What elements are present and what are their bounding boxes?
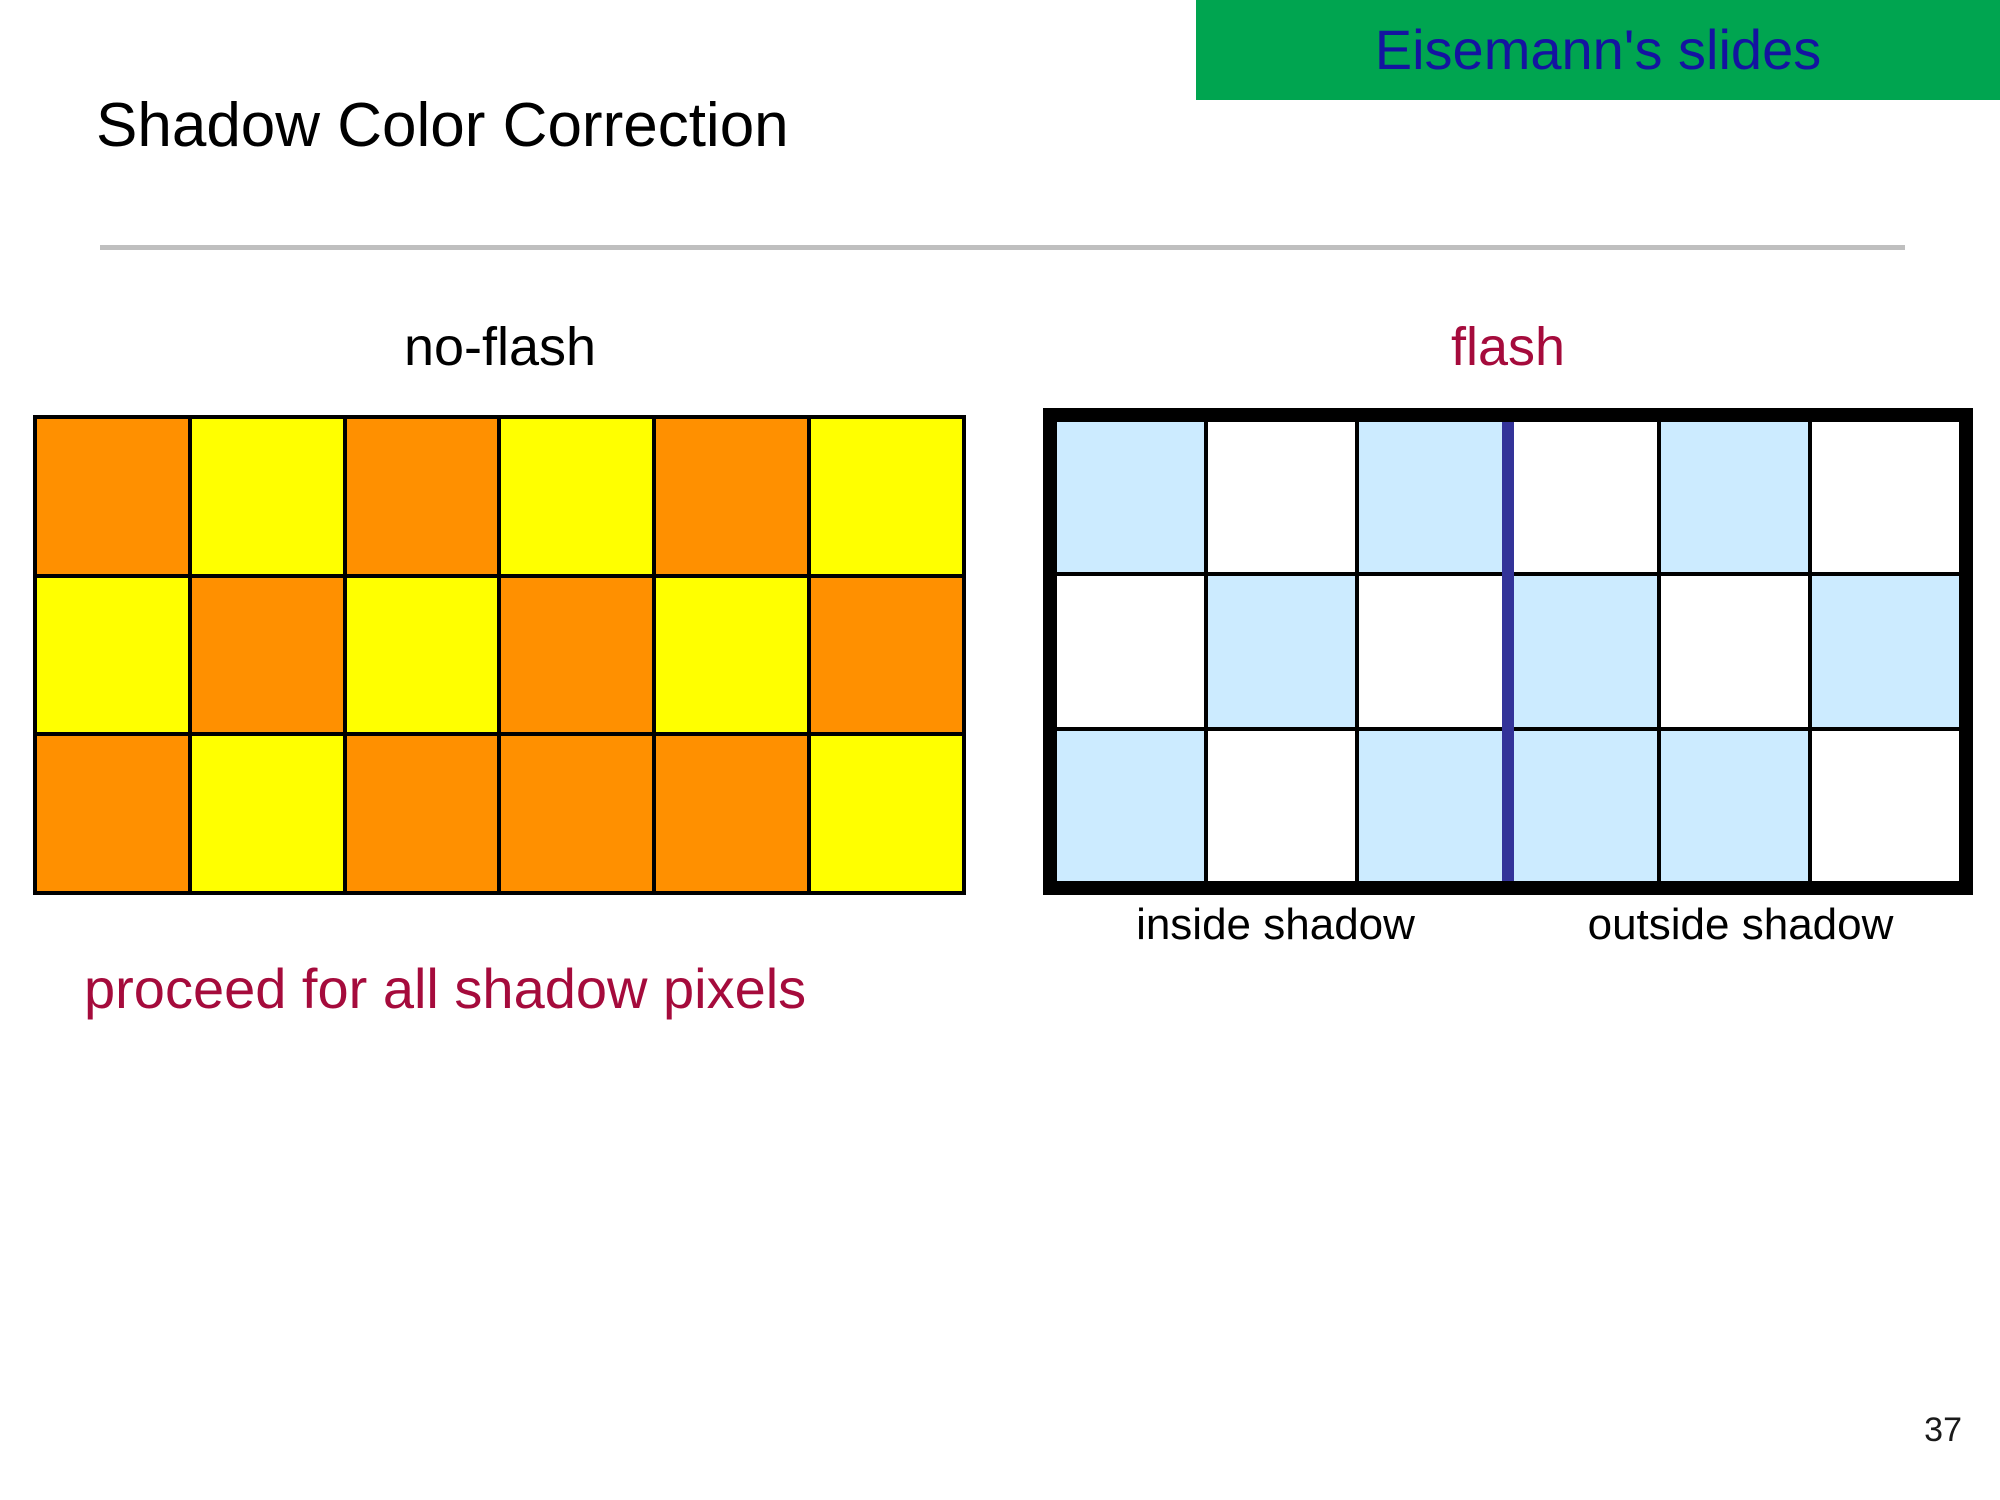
shadow-region-labels: inside shadow outside shadow: [1043, 900, 1973, 956]
procedure-caption: proceed for all shadow pixels: [84, 958, 806, 1020]
flash-pixel-cell: [1057, 731, 1204, 881]
flash-pixel-cell: [1208, 422, 1355, 572]
flash-pixel-cell: [1359, 576, 1506, 726]
flash-pixel-cell: [1359, 731, 1506, 881]
flash-pixel-cell: [1208, 731, 1355, 881]
no-flash-pixel-cell: [192, 578, 343, 733]
no-flash-pixel-cell: [811, 578, 962, 733]
flash-pixel-cell: [1057, 422, 1204, 572]
no-flash-pixel-cell: [192, 736, 343, 891]
flash-pixel-cell: [1510, 422, 1657, 572]
no-flash-pixel-cell: [37, 578, 188, 733]
attribution-banner: Eisemann's slides: [1196, 0, 2000, 100]
flash-pixel-cell: [1510, 731, 1657, 881]
attribution-text: Eisemann's slides: [1375, 22, 1821, 78]
shadow-boundary-line: [1502, 422, 1514, 881]
page-number: 37: [1924, 1411, 1962, 1450]
figure-label-flash: flash: [1043, 320, 1973, 374]
no-flash-pixel-cell: [811, 419, 962, 574]
label-outside-shadow: outside shadow: [1508, 900, 1973, 956]
flash-pixel-grid: [1057, 422, 1959, 881]
slide-canvas: Eisemann's slides Shadow Color Correctio…: [0, 0, 2000, 1500]
no-flash-pixel-cell: [656, 578, 807, 733]
flash-pixel-cell: [1661, 422, 1808, 572]
no-flash-pixel-cell: [501, 578, 652, 733]
no-flash-pixel-cell: [347, 736, 498, 891]
no-flash-pixel-cell: [656, 419, 807, 574]
flash-pixel-cell: [1812, 422, 1959, 572]
flash-pixel-cell: [1510, 576, 1657, 726]
flash-pixel-grid-frame: [1043, 408, 1973, 895]
title-divider: [100, 245, 1905, 250]
no-flash-pixel-cell: [37, 419, 188, 574]
flash-pixel-cell: [1057, 576, 1204, 726]
no-flash-pixel-cell: [811, 736, 962, 891]
figure-label-no-flash: no-flash: [0, 320, 1000, 374]
no-flash-pixel-cell: [501, 419, 652, 574]
no-flash-pixel-cell: [192, 419, 343, 574]
flash-pixel-cell: [1661, 576, 1808, 726]
label-inside-shadow: inside shadow: [1043, 900, 1508, 956]
no-flash-pixel-cell: [347, 578, 498, 733]
no-flash-pixel-cell: [501, 736, 652, 891]
flash-pixel-cell: [1208, 576, 1355, 726]
no-flash-pixel-grid: [33, 415, 966, 895]
no-flash-pixel-cell: [347, 419, 498, 574]
flash-pixel-cell: [1812, 731, 1959, 881]
flash-pixel-cell: [1812, 576, 1959, 726]
flash-pixel-cell: [1661, 731, 1808, 881]
flash-pixel-cell: [1359, 422, 1506, 572]
no-flash-pixel-cell: [37, 736, 188, 891]
no-flash-pixel-cell: [656, 736, 807, 891]
page-title: Shadow Color Correction: [96, 92, 789, 160]
